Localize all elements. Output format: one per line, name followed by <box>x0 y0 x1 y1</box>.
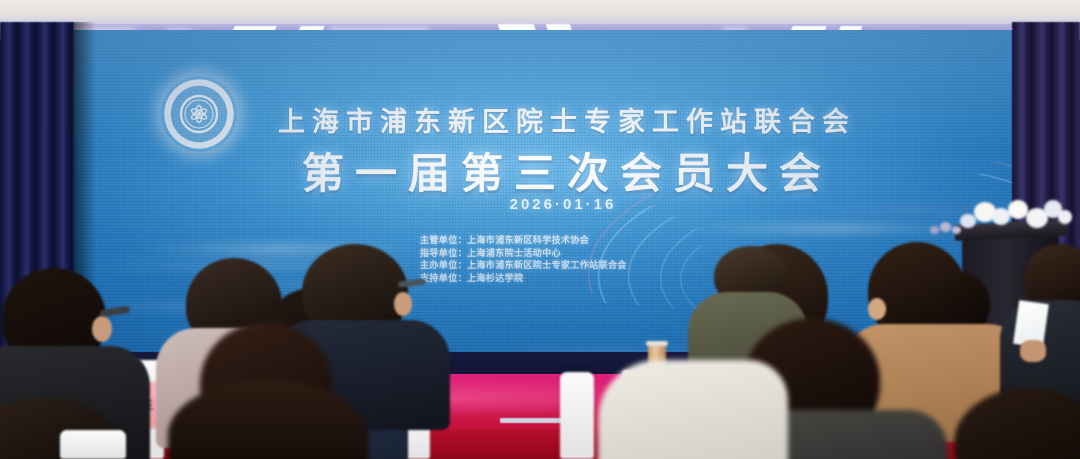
chair-back <box>60 430 126 459</box>
flower-blossom <box>1008 200 1028 219</box>
flower-blossom <box>1058 210 1072 224</box>
person-ear <box>394 292 412 316</box>
audience-person-foreground <box>156 322 386 459</box>
person-head <box>954 388 1080 459</box>
podium-flower-arrangement <box>930 196 1070 238</box>
floor-marker-tape <box>500 418 566 423</box>
audience-person-foreground <box>954 388 1080 459</box>
chair-back <box>560 372 594 459</box>
flower-bud <box>930 226 939 234</box>
person-ear <box>868 298 886 320</box>
person-hand <box>1020 340 1046 362</box>
person-ear <box>92 316 112 342</box>
conference-photo: 上海市浦东新区院士专家工作站联合会 第一届第三次会员大会 2026·01·16 … <box>0 0 1080 459</box>
flower-blossom <box>960 214 976 228</box>
flower-bud <box>940 222 951 232</box>
flower-bud <box>952 226 961 234</box>
audience-person-foreground <box>598 330 788 459</box>
person-torso <box>598 360 788 459</box>
person-hair <box>168 380 368 459</box>
